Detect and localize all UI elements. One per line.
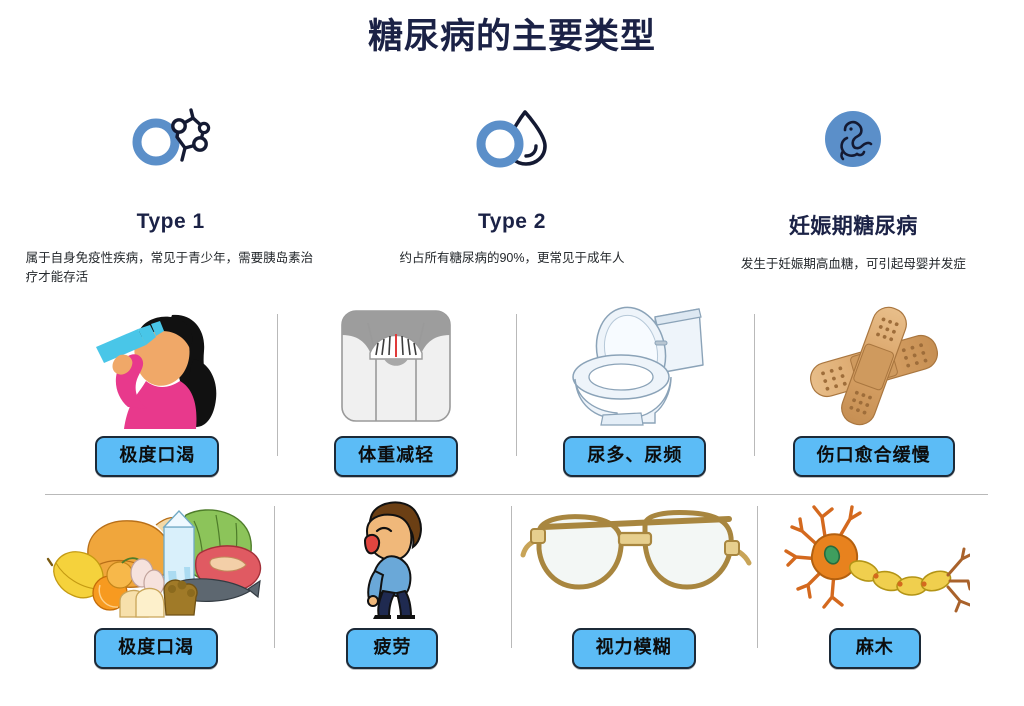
food-group-illustration <box>38 494 274 622</box>
symptom-label: 极度口渴 <box>95 436 219 477</box>
type-card-type-2: Type 2 约占所有糖尿病的90%，更常见于成年人 <box>341 108 682 288</box>
symptom-cell: 极度口渴 <box>38 494 274 686</box>
type-card-type-1: Type 1 属于自身免疫性疾病，常见于青少年，需要胰岛素治疗才能存活 <box>0 108 341 288</box>
type-description: 发生于妊娠期高血糖，可引起母婴并发症 <box>741 255 966 274</box>
neuron-illustration <box>757 494 993 622</box>
tired-person-illustration <box>274 494 510 622</box>
type-title: Type 2 <box>478 210 546 234</box>
diabetes-types-row: Type 1 属于自身免疫性疾病，常见于青少年，需要胰岛素治疗才能存活 Type… <box>0 108 1024 288</box>
woman-drinking-water-illustration <box>38 302 277 430</box>
symptom-label: 尿多、尿频 <box>563 436 706 477</box>
bathroom-scale-illustration <box>277 302 516 430</box>
type-title: Type 1 <box>137 210 205 234</box>
type-description: 属于自身免疫性疾病，常见于青少年，需要胰岛素治疗才能存活 <box>26 249 316 288</box>
ring-molecule-icon <box>128 108 214 170</box>
symptom-cell: 极度口渴 <box>38 302 277 494</box>
symptom-label: 极度口渴 <box>94 628 218 669</box>
symptom-label: 体重减轻 <box>334 436 458 477</box>
type-card-gestational: 妊娠期糖尿病 发生于妊娠期高血糖，可引起母婴并发症 <box>683 108 1024 288</box>
type-title: 妊娠期糖尿病 <box>789 210 918 240</box>
symptom-cell: 视力模糊 <box>511 494 757 686</box>
infographic-page: 糖尿病的主要类型 Type 1 属于自身免疫性疾病，常见于青少年， <box>0 0 1024 706</box>
symptom-label: 伤口愈合缓慢 <box>793 436 955 477</box>
symptom-row-1: 极度口渴 <box>38 302 993 494</box>
symptom-cell: 伤口愈合缓慢 <box>754 302 993 494</box>
symptom-cell: 麻木 <box>757 494 993 686</box>
symptom-label: 视力模糊 <box>572 628 696 669</box>
symptom-label: 麻木 <box>829 628 921 669</box>
type-description: 约占所有糖尿病的90%，更常见于成年人 <box>399 249 624 268</box>
fetus-circle-icon <box>821 108 885 170</box>
toilet-illustration <box>516 302 755 430</box>
symptom-cell: 疲劳 <box>274 494 510 686</box>
eyeglasses-illustration <box>511 494 757 622</box>
ring-blood-drop-icon <box>469 108 555 170</box>
crossed-bandages-illustration <box>754 302 993 430</box>
symptom-cell: 体重减轻 <box>277 302 516 494</box>
symptom-cell: 尿多、尿频 <box>516 302 755 494</box>
symptom-label: 疲劳 <box>346 628 438 669</box>
symptom-row-2: 极度口渴 <box>38 494 993 686</box>
page-title: 糖尿病的主要类型 <box>0 8 1024 59</box>
symptom-grid: 极度口渴 <box>38 302 993 692</box>
